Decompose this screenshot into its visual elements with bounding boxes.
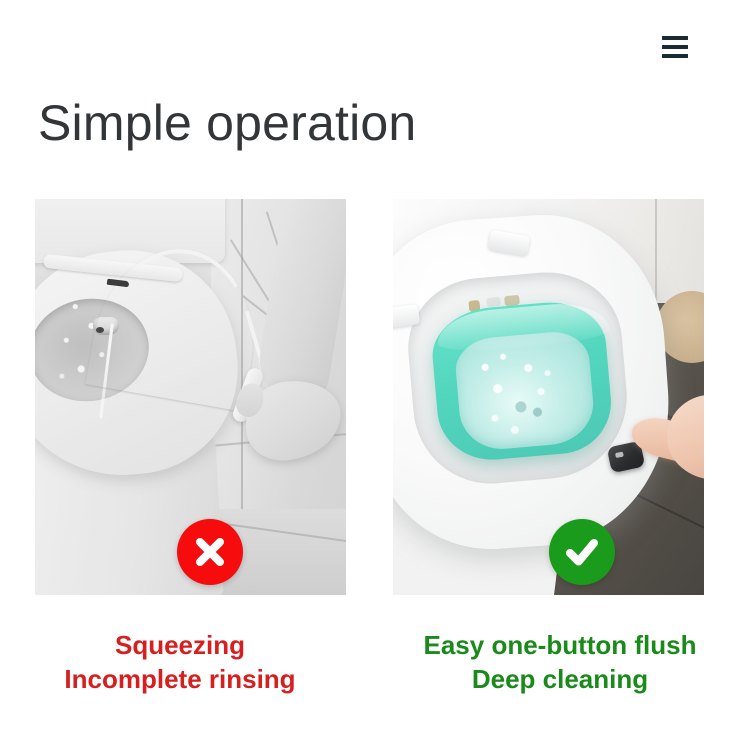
sitz-bath-photo [393,199,704,595]
water-pool [453,329,596,452]
menu-bar-1 [662,36,688,40]
hamburger-menu-icon[interactable] [662,36,688,58]
check-icon [562,532,602,572]
product-feature-page: Simple operation [0,0,750,750]
caption-correct-line-1: Easy one-button flush [380,628,740,662]
water-bubbles [453,329,596,452]
comparison-panel-incorrect[interactable] [35,199,346,595]
page-title: Simple operation [38,92,416,154]
caption-incorrect-line-2: Incomplete rinsing [0,662,360,696]
comparison-panel-correct[interactable] [393,199,704,595]
top-bar [0,0,750,92]
caption-incorrect-line-1: Squeezing [0,628,360,662]
cross-icon [191,533,229,571]
comparison-section [0,199,750,595]
caption-correct: Easy one-button flush Deep cleaning [380,628,740,696]
menu-bar-2 [662,45,688,49]
caption-incorrect: Squeezing Incomplete rinsing [0,628,360,696]
sitz-bath-basin [429,298,616,465]
status-badge-incorrect [177,519,243,585]
menu-bar-3 [662,54,688,58]
status-badge-correct [549,519,615,585]
caption-correct-line-2: Deep cleaning [380,662,740,696]
captions-row: Squeezing Incomplete rinsing Easy one-bu… [0,628,750,718]
